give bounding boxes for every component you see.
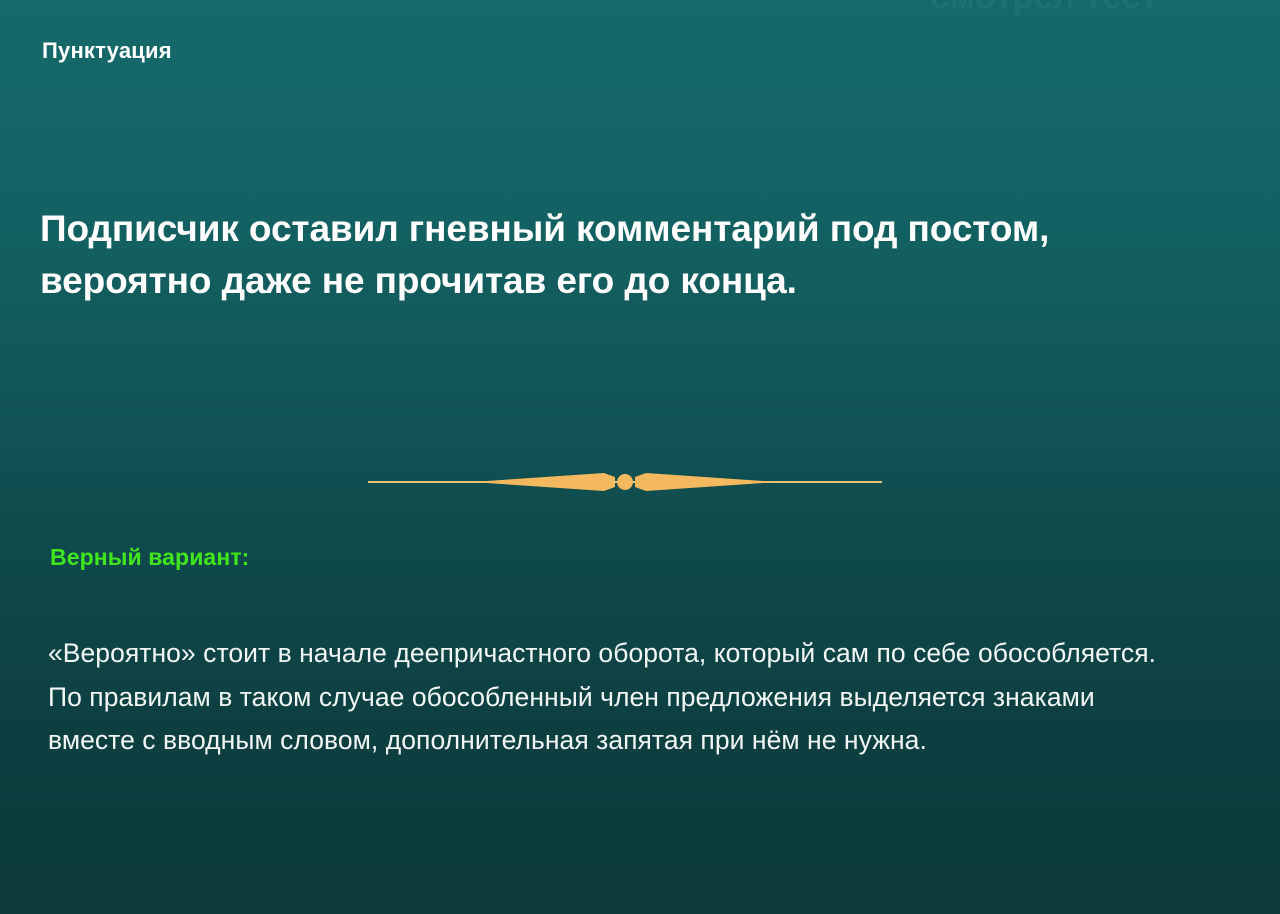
question-statement: Подписчик оставил гневный комментарий по… [40, 203, 1215, 307]
ornamental-divider [368, 468, 882, 496]
clipped-watermark-text: смотрел тест [930, 0, 1158, 17]
slide-root: смотрел тест Пунктуация Подписчик остави… [0, 0, 1280, 914]
correct-answer-label: Верный вариант: [50, 544, 249, 571]
answer-explanation: «Вероятно» стоит в начале деепричастного… [48, 632, 1178, 763]
category-label: Пунктуация [42, 38, 172, 64]
